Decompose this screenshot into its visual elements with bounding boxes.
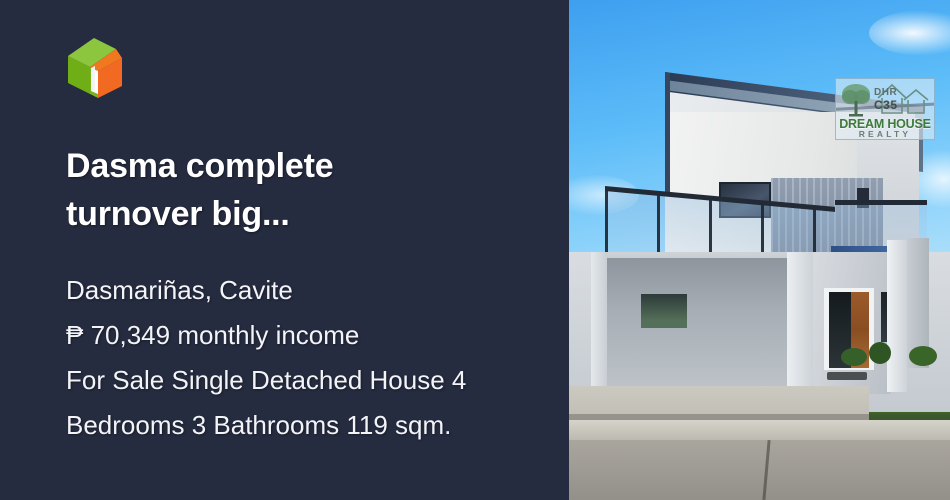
shrub-icon [909, 346, 937, 366]
page-title: Dasma complete turnover big... [66, 142, 506, 238]
property-photo[interactable]: DHR C35 DREAM HOUSE REALTY [569, 0, 950, 500]
road [569, 440, 950, 500]
tree-icon [841, 83, 871, 117]
balcony-rail-right [835, 200, 927, 205]
entry-pillar [887, 240, 907, 392]
listing-details: Dasmariñas, Cavite ₱ 70,349 monthly inco… [66, 268, 556, 448]
watermark-code-prefix: DHR [874, 87, 897, 98]
watermark-brand-subtitle: REALTY [836, 129, 934, 139]
watermark: DHR C35 DREAM HOUSE REALTY [835, 78, 935, 140]
detail-location: Dasmariñas, Cavite [66, 268, 556, 313]
property-listing-card[interactable]: Dasma complete turnover big... Dasmariña… [0, 0, 950, 500]
carport-interior [603, 258, 791, 386]
watermark-code: C35 [874, 98, 898, 112]
detail-property-type-line1: For Sale Single Detached House 4 [66, 358, 556, 403]
carport-column-center [787, 252, 813, 402]
detail-property-type-line2: Bedrooms 3 Bathrooms 119 sqm. [66, 403, 556, 448]
detail-monthly-income: ₱ 70,349 monthly income [66, 313, 556, 358]
shrub-icon [841, 348, 867, 366]
shrub-icon [869, 342, 891, 364]
carport-rear-opening [641, 294, 687, 328]
house-logo-icon [64, 36, 128, 98]
door-mat [827, 372, 867, 380]
info-panel: Dasma complete turnover big... Dasmariña… [0, 0, 569, 500]
roof-edge [665, 72, 670, 193]
